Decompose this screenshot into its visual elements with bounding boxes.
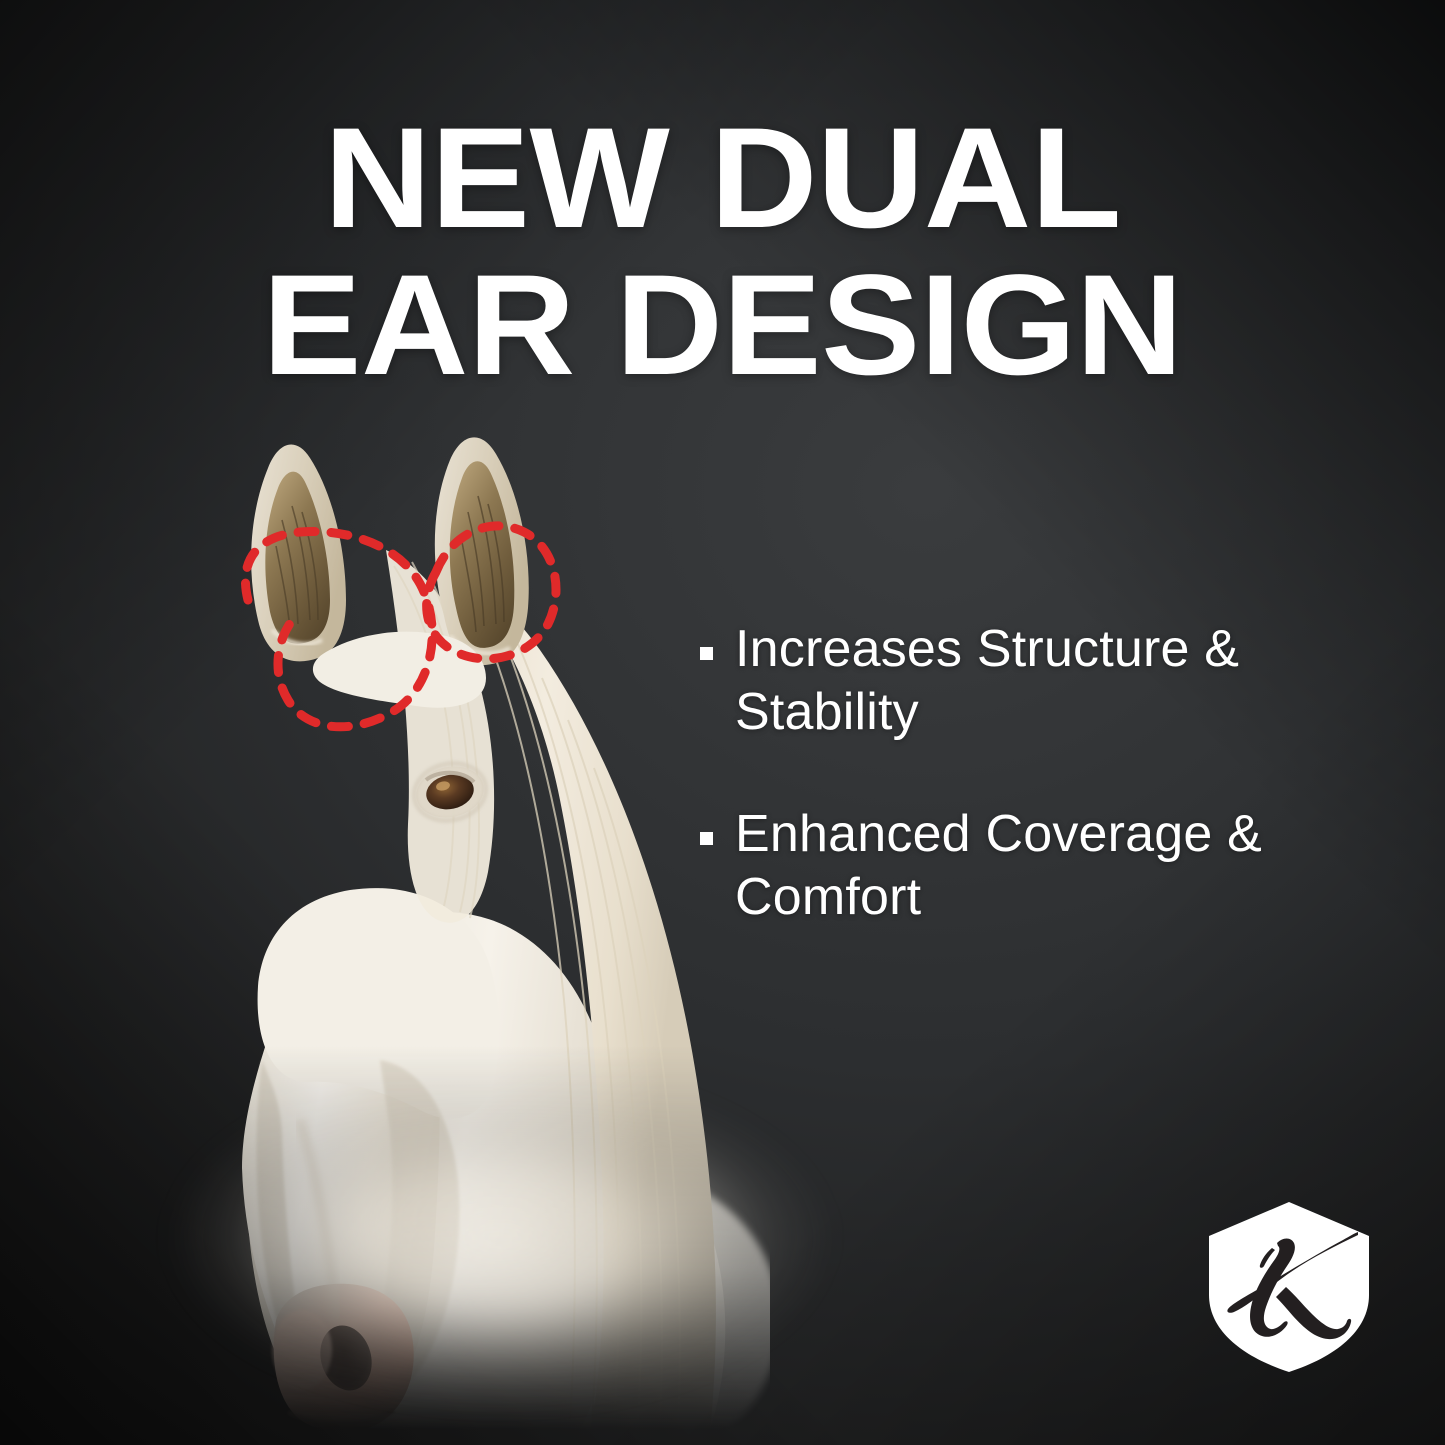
horse-left-ear [251, 445, 346, 662]
feature-text-1: Increases Structure & Stability [735, 618, 1360, 745]
horse-photo [150, 420, 770, 1430]
shield-k-logo [1203, 1199, 1375, 1375]
feature-text-2: Enhanced Coverage & Comfort [735, 803, 1360, 930]
list-item: Increases Structure & Stability [700, 618, 1360, 745]
square-bullet-icon [700, 832, 713, 845]
square-bullet-icon [700, 647, 713, 660]
feature-list: Increases Structure & Stability Enhanced… [700, 618, 1360, 930]
list-item: Enhanced Coverage & Comfort [700, 803, 1360, 930]
horse-right-ear [435, 437, 529, 665]
horse-illustration [150, 420, 770, 1430]
headline-block: NEW DUAL EAR DESIGN [0, 112, 1445, 392]
headline-line-1: NEW DUAL [0, 112, 1445, 245]
poster-canvas: NEW DUAL EAR DESIGN Increases Structure … [0, 0, 1445, 1445]
shield-icon [1209, 1202, 1369, 1372]
headline-line-2: EAR DESIGN [0, 259, 1445, 392]
